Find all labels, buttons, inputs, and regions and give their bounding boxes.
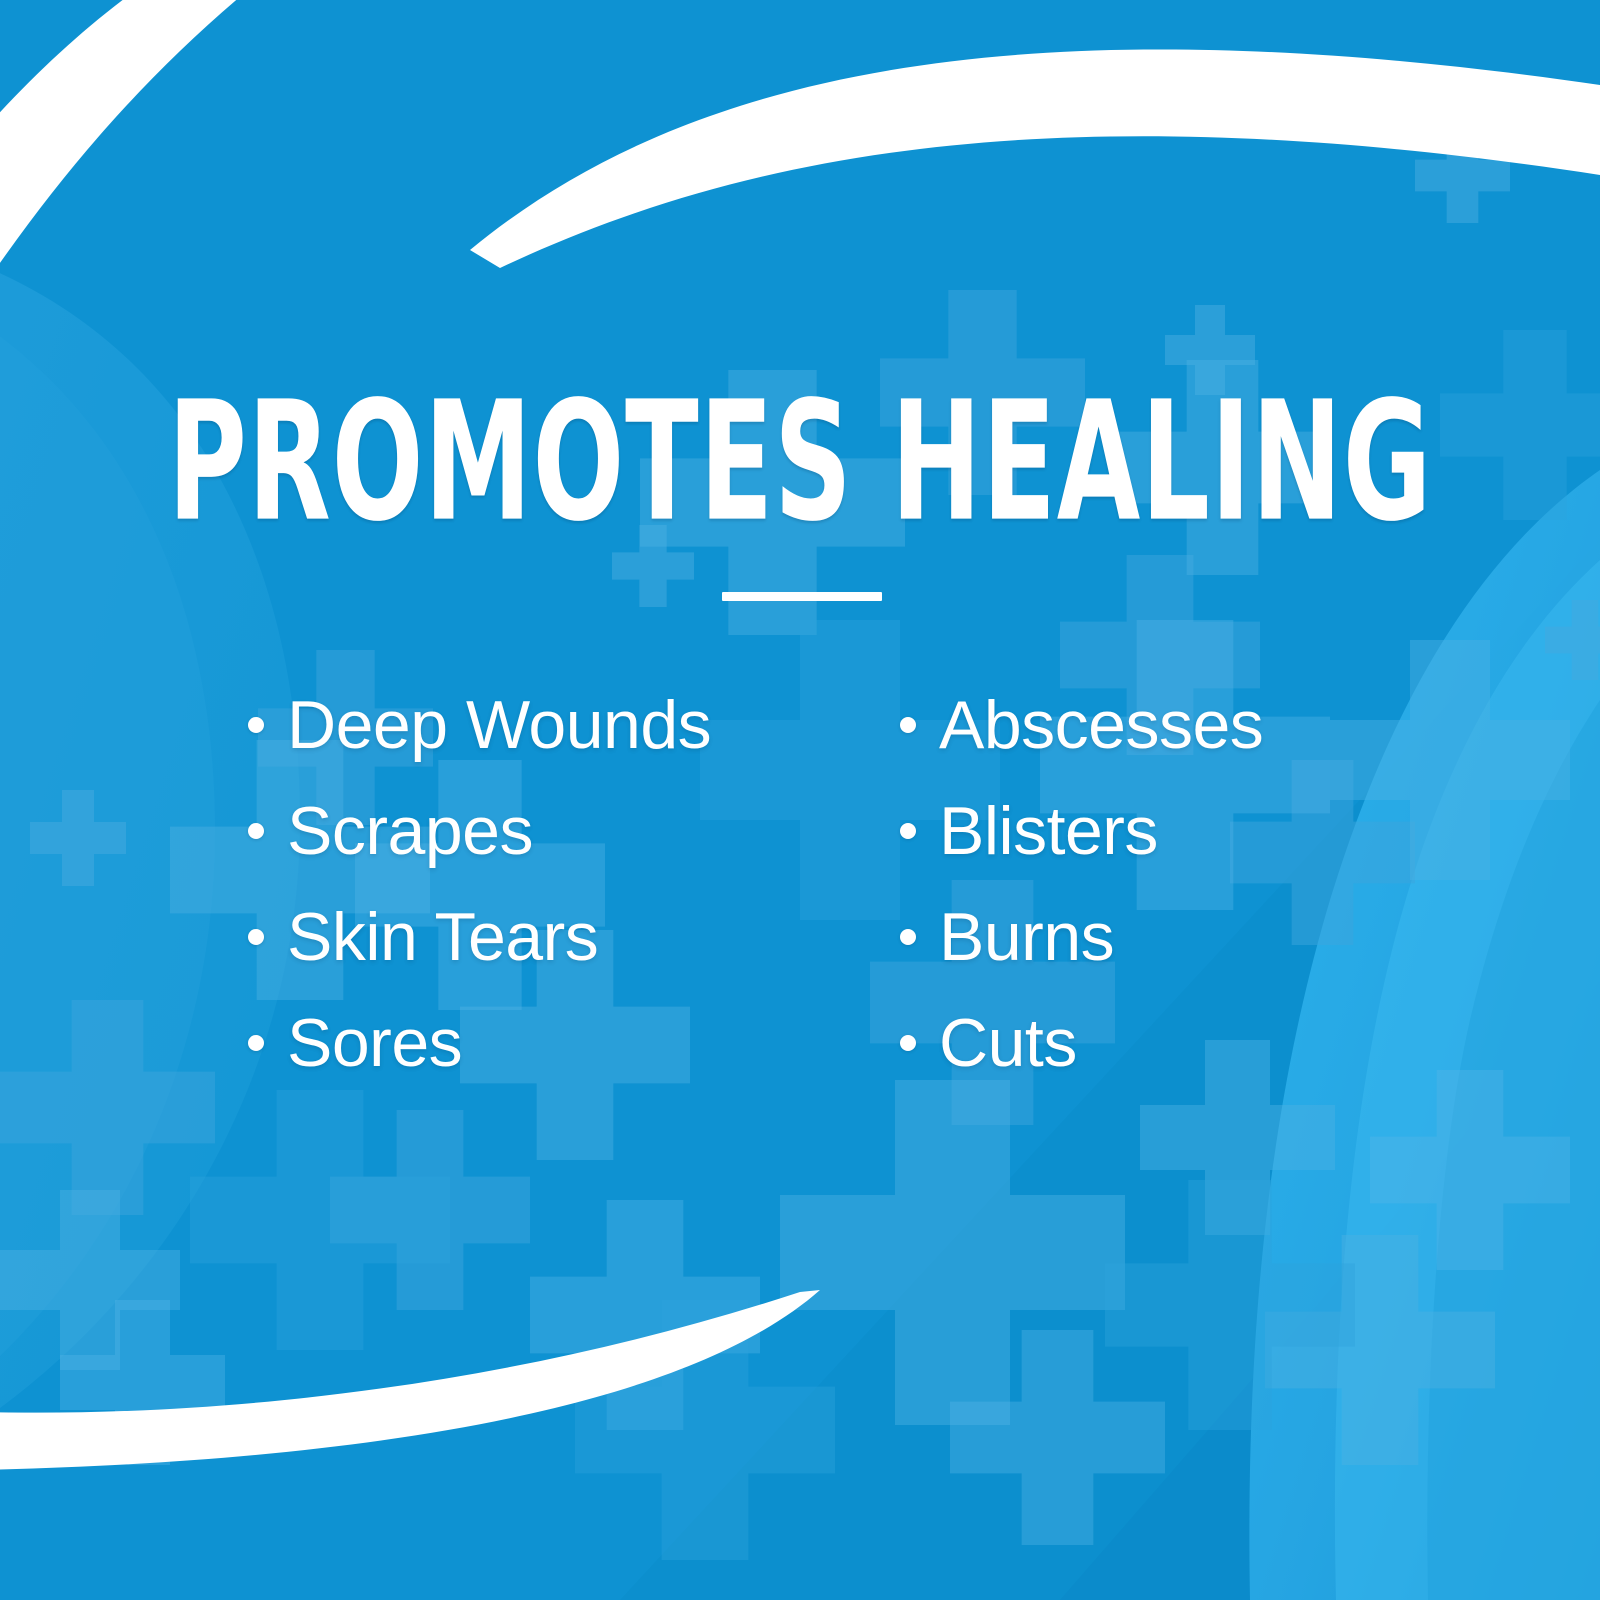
list-item-label: Burns [939,898,1114,976]
list-item: Cuts [900,990,1360,1096]
list-item: Sores [248,990,660,1096]
bullet-icon [900,823,916,839]
benefits-list-right: Abscesses Blisters Burns Cuts [660,672,1360,1096]
page-title: PROMOTES HEALING [160,380,1440,545]
bullet-icon [248,1035,264,1051]
list-item-label: Abscesses [939,686,1263,764]
list-item: Scrapes [248,778,660,884]
list-item-label: Blisters [939,792,1158,870]
bullet-icon [248,823,264,839]
list-item-label: Skin Tears [287,898,598,976]
list-item-label: Scrapes [287,792,533,870]
list-item-label: Cuts [939,1004,1077,1082]
list-item: Abscesses [900,672,1360,778]
title-divider [722,592,882,601]
list-item: Blisters [900,778,1360,884]
list-item: Skin Tears [248,884,660,990]
poster-canvas: PROMOTES HEALING Deep Wounds Scrapes Ski… [0,0,1600,1600]
bullet-icon [900,1035,916,1051]
benefits-list-left: Deep Wounds Scrapes Skin Tears Sores [0,672,660,1096]
bullet-icon [248,929,264,945]
bullet-icon [900,929,916,945]
list-item: Burns [900,884,1360,990]
list-item-label: Deep Wounds [287,686,711,764]
list-item: Deep Wounds [248,672,660,778]
bullet-icon [248,717,264,733]
bullet-icon [900,717,916,733]
benefits-lists: Deep Wounds Scrapes Skin Tears Sores [0,672,1600,1096]
list-item-label: Sores [287,1004,462,1082]
